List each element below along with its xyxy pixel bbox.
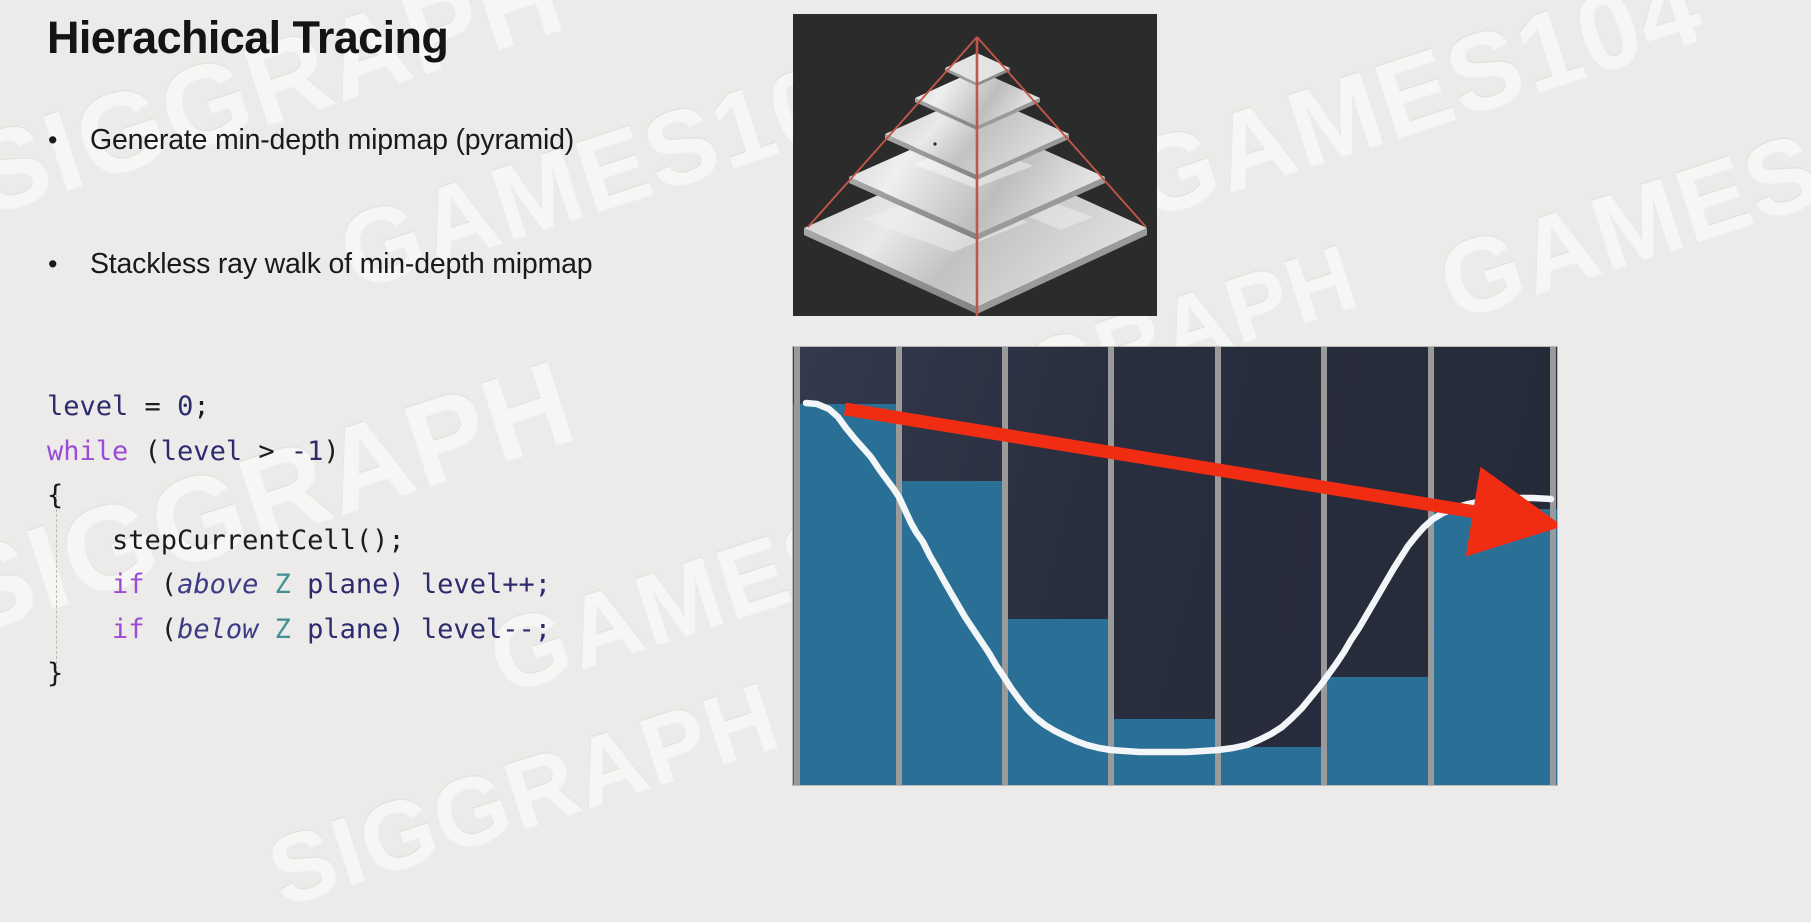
page-title: Hierachical Tracing: [47, 14, 448, 63]
code-token: ): [323, 436, 339, 467]
code-token: if: [112, 614, 145, 645]
code-token: [47, 569, 112, 600]
code-line: if (below Z plane) level--;: [47, 608, 551, 653]
code-token: level: [161, 436, 242, 467]
code-token: -1: [291, 436, 324, 467]
code-line: while (level > -1): [47, 430, 551, 475]
code-token: level: [47, 391, 128, 422]
slide-canvas: SIGGRAPH GAMES104 SIGGRAPH GAMES104 SIGG…: [0, 0, 1811, 922]
code-token: >: [242, 436, 291, 467]
code-token: (: [145, 614, 178, 645]
code-line: stepCurrentCell();: [47, 519, 551, 564]
code-token: (: [145, 569, 178, 600]
code-token: while: [47, 436, 128, 467]
min-depth-cell: [1327, 677, 1429, 785]
code-token: =: [128, 391, 177, 422]
code-token: above: [177, 569, 258, 600]
slide-left-column: Hierachical Tracing • Generate min-depth…: [0, 0, 790, 922]
code-token: [258, 614, 274, 645]
code-token: {: [47, 480, 63, 511]
min-depth-cell: [1434, 509, 1557, 785]
bullet-item: • Stackless ray walk of min-depth mipmap: [44, 243, 784, 285]
code-token: level++;: [421, 569, 551, 600]
code-token: 0: [177, 391, 193, 422]
surface-speck-icon: [933, 142, 936, 145]
code-block: level = 0;while (level > -1){ stepCurren…: [47, 385, 551, 697]
code-token: plane): [291, 569, 421, 600]
code-token: if: [112, 569, 145, 600]
code-token: Z: [275, 614, 291, 645]
code-token: }: [47, 658, 63, 689]
mipmap-pyramid-figure: [793, 14, 1157, 316]
code-token: plane): [291, 614, 421, 645]
code-token: ;: [193, 391, 209, 422]
bullet-marker-icon: •: [44, 243, 90, 285]
code-line: level = 0;: [47, 385, 551, 430]
code-token: Z: [275, 569, 291, 600]
bullet-label: Generate min-depth mipmap (pyramid): [90, 119, 574, 161]
code-token: [47, 614, 112, 645]
code-token: stepCurrentCell();: [47, 525, 405, 556]
heightfield-raywalk-figure: [792, 346, 1558, 786]
code-line: }: [47, 652, 551, 697]
bullet-label: Stackless ray walk of min-depth mipmap: [90, 243, 592, 285]
code-token: [258, 569, 274, 600]
code-line: {: [47, 474, 551, 519]
pyramid-svg: [793, 14, 1157, 316]
code-token: (: [128, 436, 161, 467]
bullet-item: • Generate min-depth mipmap (pyramid): [44, 119, 784, 161]
min-depth-cell: [793, 404, 896, 785]
min-depth-cell: [1221, 747, 1322, 785]
code-token: below: [177, 614, 258, 645]
watermark-text: GAMES104: [1426, 55, 1811, 345]
watermark-text: GAMES104: [1115, 0, 1717, 243]
code-line: if (above Z plane) level++;: [47, 563, 551, 608]
bullet-marker-icon: •: [44, 119, 90, 161]
code-token: level--;: [421, 614, 551, 645]
heightfield-svg: [793, 347, 1557, 785]
